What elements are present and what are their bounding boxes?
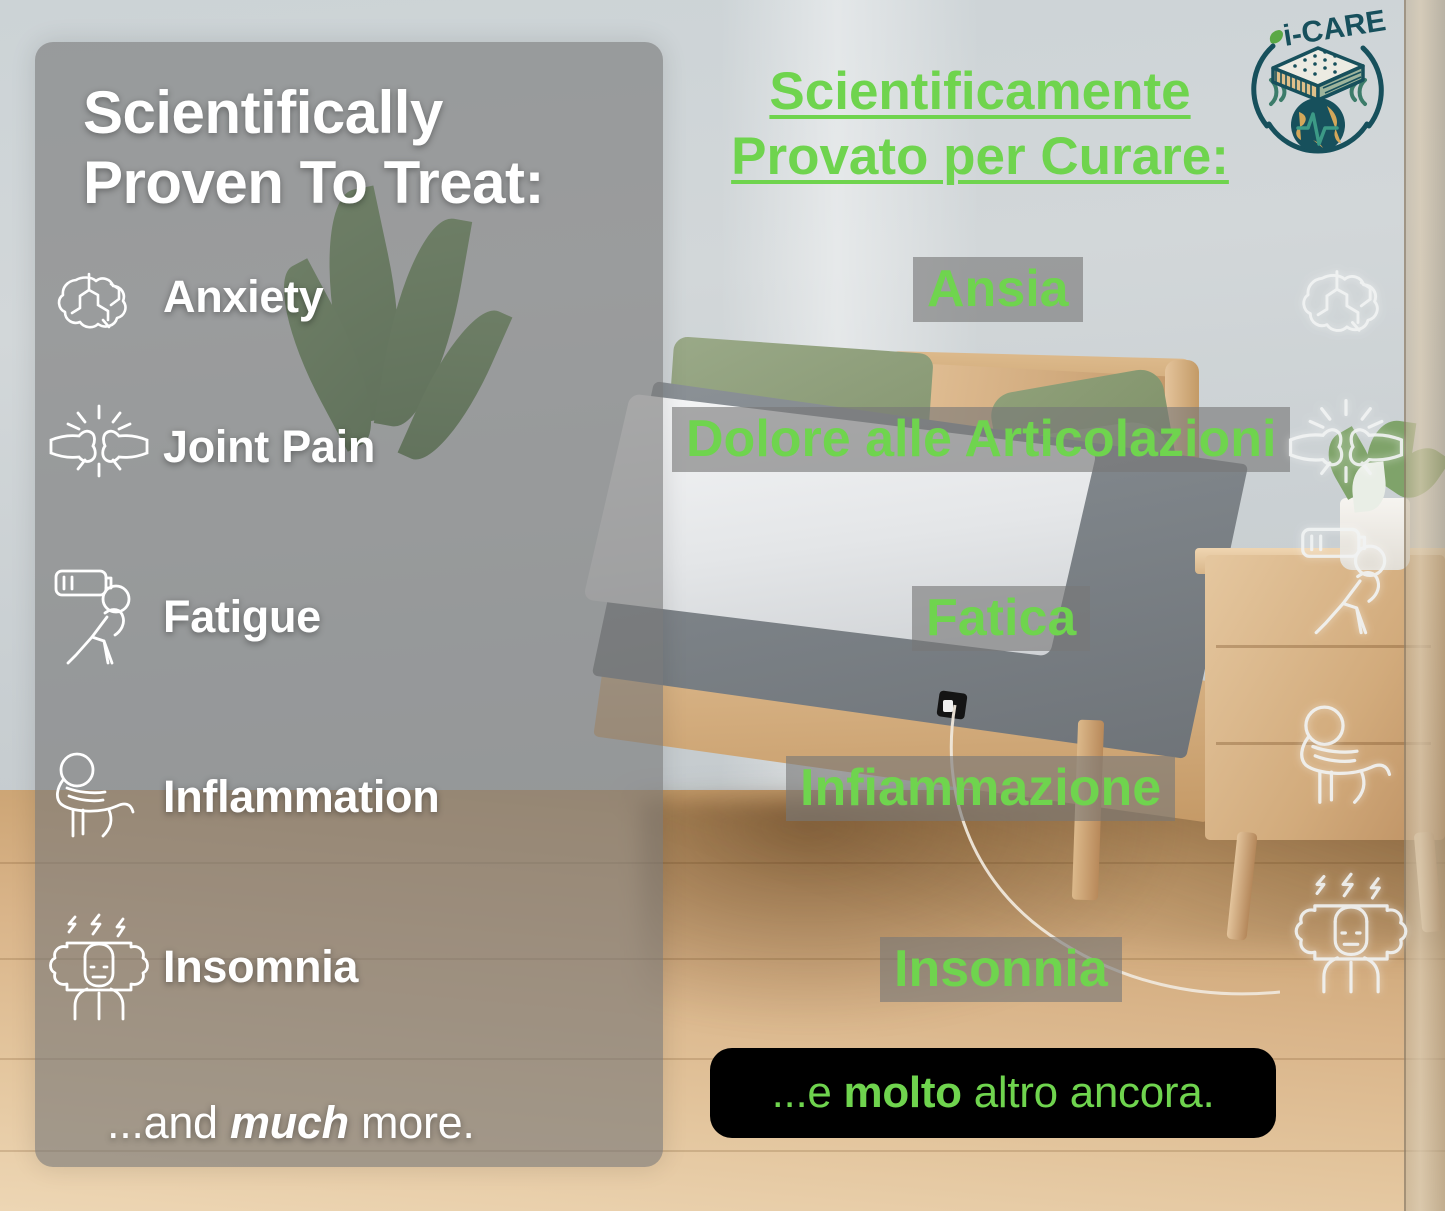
card-item-label: Anxiety [163, 271, 323, 323]
insomnia-icon [35, 913, 163, 1021]
card-item-insomnia: Insomnia [35, 912, 663, 1022]
right-edge-strip [1404, 0, 1445, 1211]
brain-icon [35, 260, 163, 334]
fatigue-battery-icon [35, 565, 163, 669]
fatigue-battery-icon [1296, 522, 1406, 645]
italian-label-fatica: Fatica [912, 586, 1090, 651]
italian-footer-text: ...e molto altro ancora. [772, 1068, 1215, 1118]
italian-label-ansia: Ansia [913, 257, 1083, 322]
italian-heading-line1: Scientificamente [769, 62, 1190, 121]
card-title-line1: Scientifically [83, 78, 643, 148]
card-item-label: Inflammation [163, 771, 439, 823]
italian-footer-emphasis: molto [844, 1068, 962, 1117]
card-item-joint-pain: Joint Pain [35, 392, 663, 502]
joint-pain-icon [35, 402, 163, 492]
card-more-suffix: more. [349, 1097, 475, 1148]
card-item-label: Insomnia [163, 941, 358, 993]
italian-heading-line2: Provato per Curare: [731, 127, 1229, 186]
italian-label-infiammazione: Infiammazione [786, 756, 1175, 821]
card-title: Scientifically Proven To Treat: [83, 78, 643, 218]
insomnia-icon [1292, 872, 1410, 999]
italian-footer-prefix: ...e [772, 1068, 844, 1117]
card-more-prefix: ...and [107, 1097, 230, 1148]
promo-image-root: Scientifically Proven To Treat: Anxiety [0, 0, 1445, 1211]
card-more-text: ...and much more. [107, 1097, 475, 1149]
card-more-emphasis: much [230, 1097, 349, 1148]
italian-footer-suffix: altro ancora. [962, 1068, 1215, 1117]
card-title-line2: Proven To Treat: [83, 148, 643, 218]
card-item-label: Fatigue [163, 591, 321, 643]
joint-pain-icon [1288, 396, 1404, 505]
card-item-anxiety: Anxiety [35, 242, 663, 352]
card-item-inflammation: Inflammation [35, 742, 663, 852]
inflammation-back-pain-icon [1292, 700, 1408, 819]
card-item-label: Joint Pain [163, 421, 375, 473]
italian-label-insonnia: Insonnia [880, 937, 1122, 1002]
logo-wordmark: i-CARE [1281, 8, 1388, 53]
italian-label-dolore-articolazioni: Dolore alle Articolazioni [672, 407, 1290, 472]
italian-footer-bar: ...e molto altro ancora. [710, 1048, 1276, 1138]
inflammation-back-pain-icon [35, 748, 163, 846]
nightstand-drawer-divider [1216, 645, 1431, 648]
icare-logo[interactable]: i-CARE [1243, 8, 1393, 173]
brain-icon [1298, 256, 1398, 343]
italian-heading: Scientificamente Provato per Curare: [700, 60, 1260, 189]
english-overlay-card: Scientifically Proven To Treat: Anxiety [35, 42, 663, 1167]
card-item-fatigue: Fatigue [35, 562, 663, 672]
